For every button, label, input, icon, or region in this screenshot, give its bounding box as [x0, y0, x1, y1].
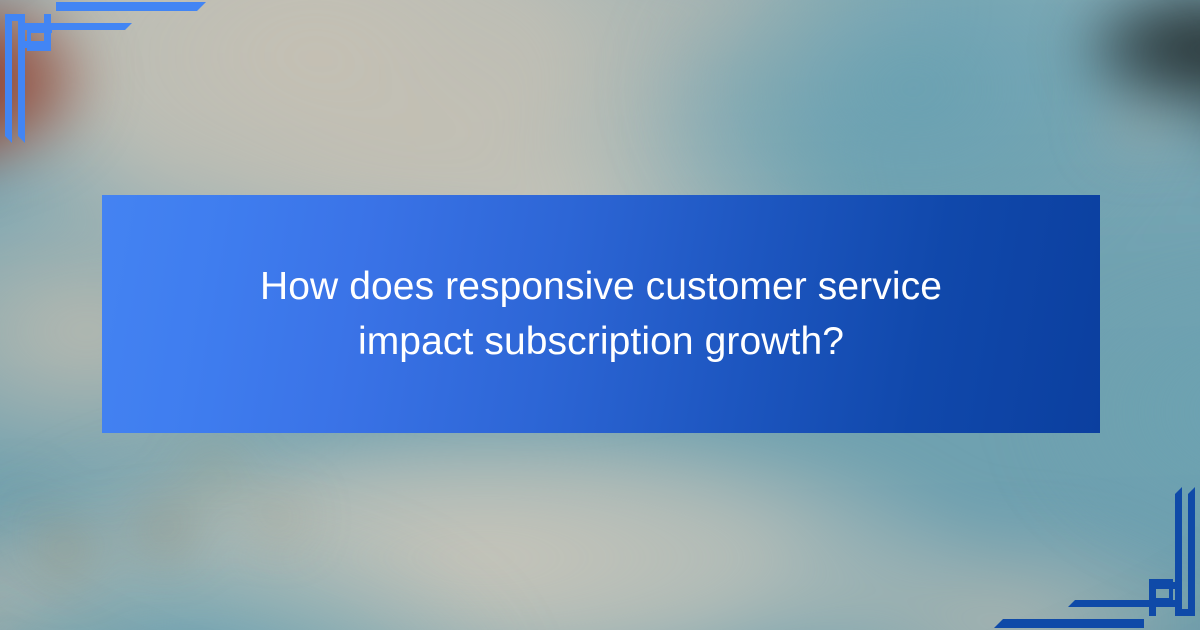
question-card: How does responsive customer service imp… [0, 0, 1200, 630]
corner-square-outline [27, 28, 51, 51]
corner-frame-top-left-icon [0, 0, 210, 152]
corner-frame-bottom-right-icon [990, 478, 1200, 630]
headline-text: How does responsive customer service imp… [197, 259, 1005, 370]
headline-banner: How does responsive customer service imp… [102, 195, 1100, 433]
corner-square-outline [1149, 579, 1173, 602]
